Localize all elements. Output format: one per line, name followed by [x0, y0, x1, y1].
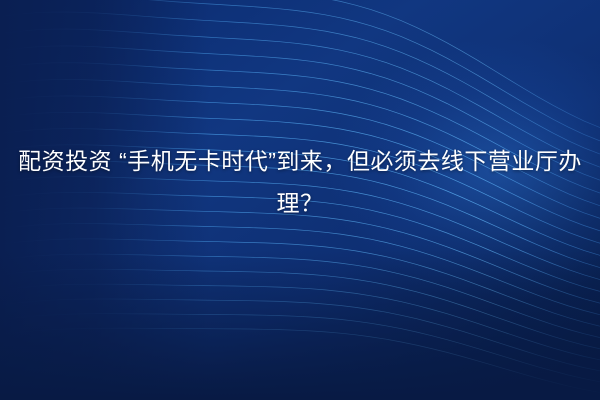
banner-headline: 配资投资 “手机无卡时代”到来，但必须去线下营业厅办理？: [0, 140, 600, 224]
banner-image: 配资投资 “手机无卡时代”到来，但必须去线下营业厅办理？: [0, 0, 600, 400]
